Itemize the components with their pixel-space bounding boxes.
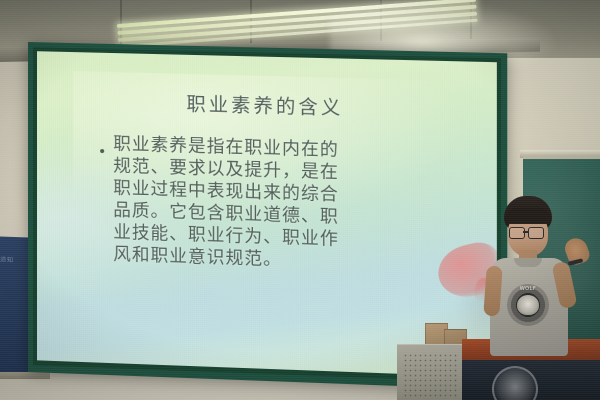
tshirt-graphic-label: WOLF — [510, 286, 546, 292]
speaker-grille-icon — [403, 353, 458, 397]
presenter-fringe — [505, 208, 551, 224]
glasses-lens-left-icon — [509, 227, 525, 239]
slide-paragraph: 职业素养是指在职业内在的 规范、要求以及提升，是在 职业过程中表现出来的综合 品… — [113, 133, 419, 276]
floor-speaker — [397, 344, 464, 400]
bullet-marker-icon — [100, 149, 104, 153]
slide-title: 职业素养的含义 — [37, 85, 497, 124]
notice-board-label: 须知 — [0, 255, 14, 264]
presenter: WOLF — [486, 196, 600, 356]
board-shelf — [0, 372, 50, 379]
glasses-lens-right-icon — [528, 227, 544, 239]
tshirt-graphic-animal — [517, 295, 539, 315]
glasses-bridge-icon — [523, 231, 528, 233]
classroom-photo: 须知 职业素养的含义 职业素养是指在职业内在的 规范、要求以及提升，是在 职业过… — [0, 0, 600, 400]
